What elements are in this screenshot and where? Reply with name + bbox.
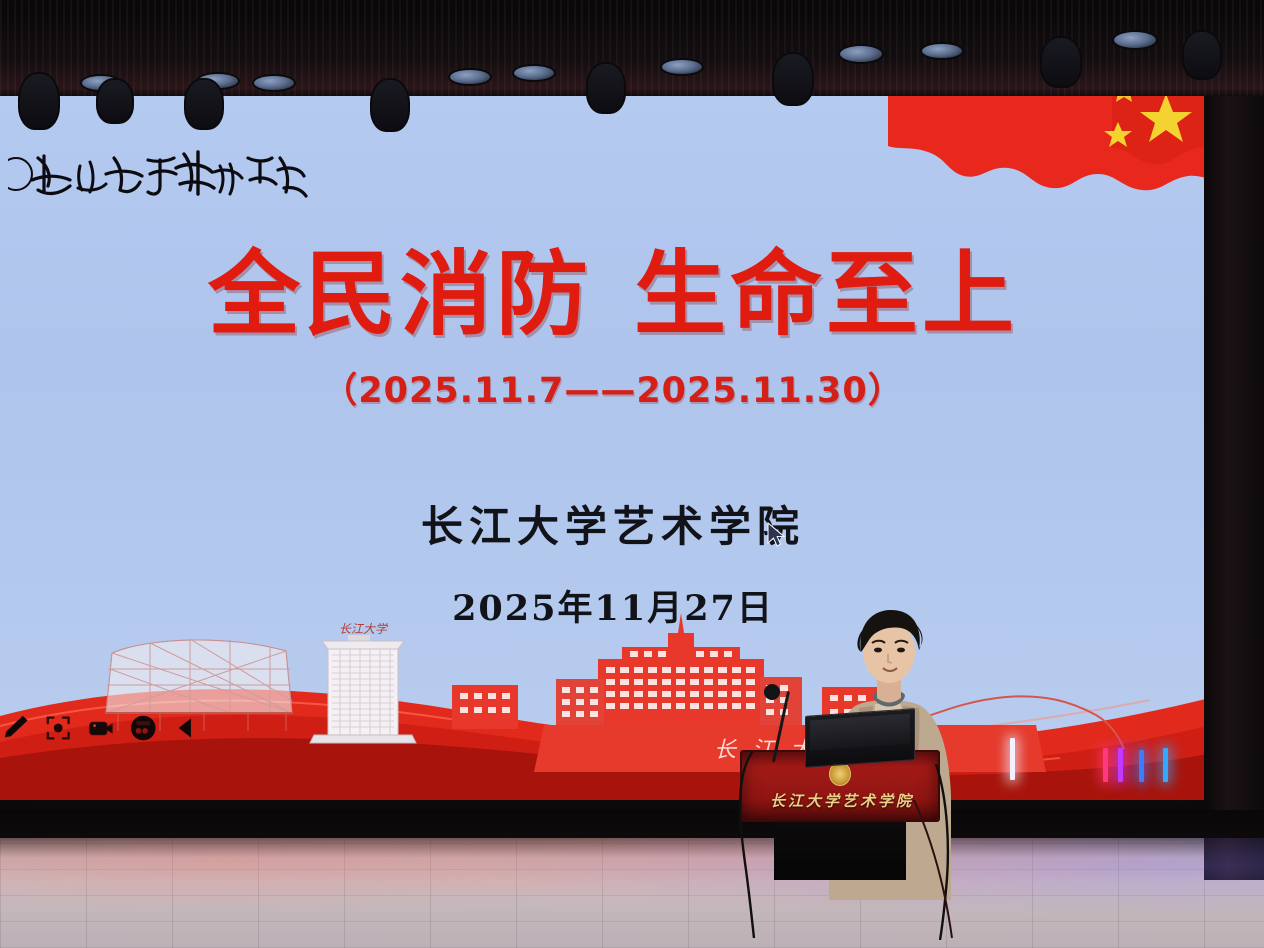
projection-screen: 全民消防生命至上 （2025.11.7——2025.11.30） 长江大学艺术学…	[0, 40, 1226, 800]
stage-light-17	[1182, 30, 1222, 80]
focus-frame-icon[interactable]	[44, 713, 72, 743]
main-title-part1: 全民消防	[208, 241, 592, 348]
led-bar-4	[1139, 750, 1144, 782]
stage-light-1	[18, 72, 60, 130]
stage-light-13	[838, 44, 884, 64]
stage-light-14	[920, 42, 964, 60]
svg-text:长江大学: 长江大学	[339, 622, 389, 636]
stage-light-3	[96, 78, 134, 124]
stage-light-16	[1112, 30, 1158, 50]
annotation-toolbar[interactable]	[0, 708, 200, 748]
mouse-cursor	[766, 522, 788, 548]
back-chevron-icon[interactable]	[172, 713, 200, 743]
pen-icon[interactable]	[2, 713, 30, 743]
microphone-head	[764, 684, 780, 700]
led-bar-5	[1163, 748, 1168, 782]
led-bar-2	[1103, 748, 1108, 782]
slide-date-range: （2025.11.7——2025.11.30）	[0, 362, 1226, 413]
stage-light-8	[448, 68, 492, 86]
auditorium-scene: 全民消防生命至上 （2025.11.7——2025.11.30） 长江大学艺术学…	[0, 0, 1264, 948]
cable-group	[700, 740, 1020, 940]
stage-light-15	[1040, 36, 1082, 88]
led-bar-3	[1118, 748, 1123, 782]
stage-edge	[0, 810, 1264, 838]
stage-light-5	[252, 74, 296, 92]
stage-floor	[0, 838, 1264, 948]
main-title-part2: 生命至上	[634, 241, 1018, 348]
stage-light-6	[184, 78, 224, 130]
stage-curtain-right	[1204, 0, 1264, 880]
record-icon[interactable]	[129, 713, 157, 743]
stage-light-10	[586, 62, 626, 114]
slide-title-block: 全民消防生命至上 （2025.11.7——2025.11.30） 长江大学艺术学…	[0, 245, 1226, 631]
stage-light-11	[660, 58, 704, 76]
institution-logo	[8, 140, 308, 208]
slide-main-title: 全民消防生命至上	[0, 245, 1226, 344]
camera-icon[interactable]	[87, 713, 115, 743]
stage-light-7	[370, 78, 410, 132]
slide-organization: 长江大学艺术学院	[0, 493, 1226, 554]
stage-light-12	[772, 52, 814, 106]
stage-light-9	[512, 64, 556, 82]
